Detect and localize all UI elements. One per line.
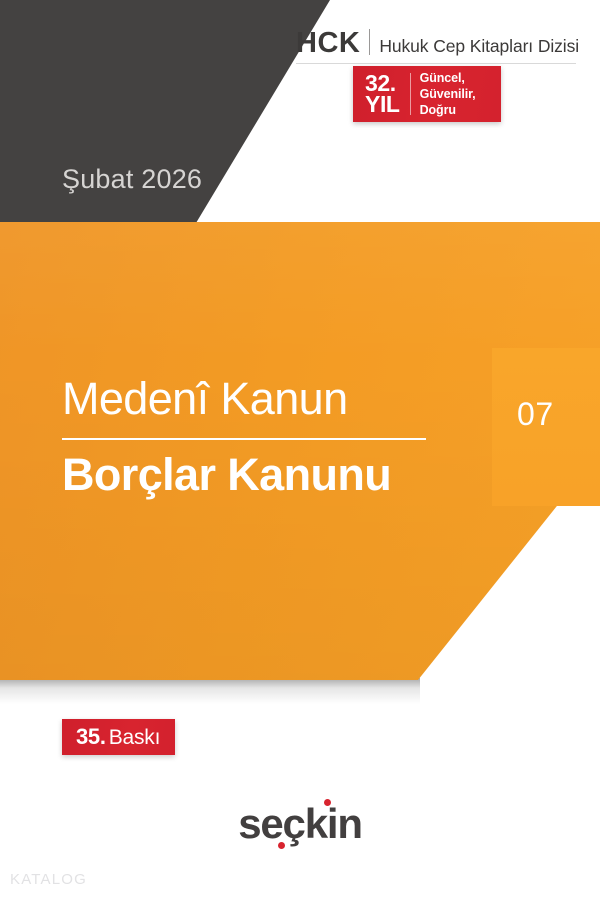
- edition-word: Baskı: [109, 727, 161, 748]
- book-cover: HCK Hukuk Cep Kitapları Dizisi 32. YIL G…: [0, 0, 600, 900]
- header-divider-rule: [296, 63, 576, 64]
- logo-red-dot-cedilla-icon: [278, 842, 285, 849]
- hck-logo-text: HCK: [296, 29, 360, 58]
- title-block: Medenî Kanun Borçlar Kanunu: [62, 376, 426, 498]
- slogan-line-3: Doğru: [420, 102, 476, 118]
- volume-number-label: 07: [517, 398, 554, 430]
- header-vertical-divider: [369, 29, 370, 55]
- anniversary-badge: 32. YIL Güncel, Güvenilir, Doğru: [353, 66, 501, 122]
- badge-vertical-divider: [410, 73, 411, 115]
- catalog-watermark: KATALOG: [10, 872, 87, 887]
- series-header: HCK Hukuk Cep Kitapları Dizisi: [296, 26, 579, 58]
- orange-bottom-shadow: [0, 678, 420, 704]
- publisher-name-text: seçkin: [238, 800, 362, 847]
- anniversary-years: 32. YIL: [353, 73, 400, 115]
- edition-badge: 35. Baskı: [62, 719, 175, 755]
- anniversary-slogan: Güncel, Güvenilir, Doğru: [420, 70, 476, 118]
- slogan-line-1: Güncel,: [420, 70, 476, 86]
- issue-date-label: Şubat 2026: [62, 166, 202, 193]
- slogan-line-2: Güvenilir,: [420, 86, 476, 102]
- publisher-wordmark: seçkin: [238, 803, 362, 845]
- book-title-line-2: Borçlar Kanunu: [62, 452, 426, 498]
- publisher-logo: seçkin: [0, 803, 600, 845]
- book-title-line-1: Medenî Kanun: [62, 376, 426, 422]
- edition-number: 35.: [76, 726, 106, 748]
- title-divider-rule: [62, 438, 426, 440]
- series-name-label: Hukuk Cep Kitapları Dizisi: [379, 38, 579, 56]
- anniversary-year-word: YIL: [365, 94, 400, 115]
